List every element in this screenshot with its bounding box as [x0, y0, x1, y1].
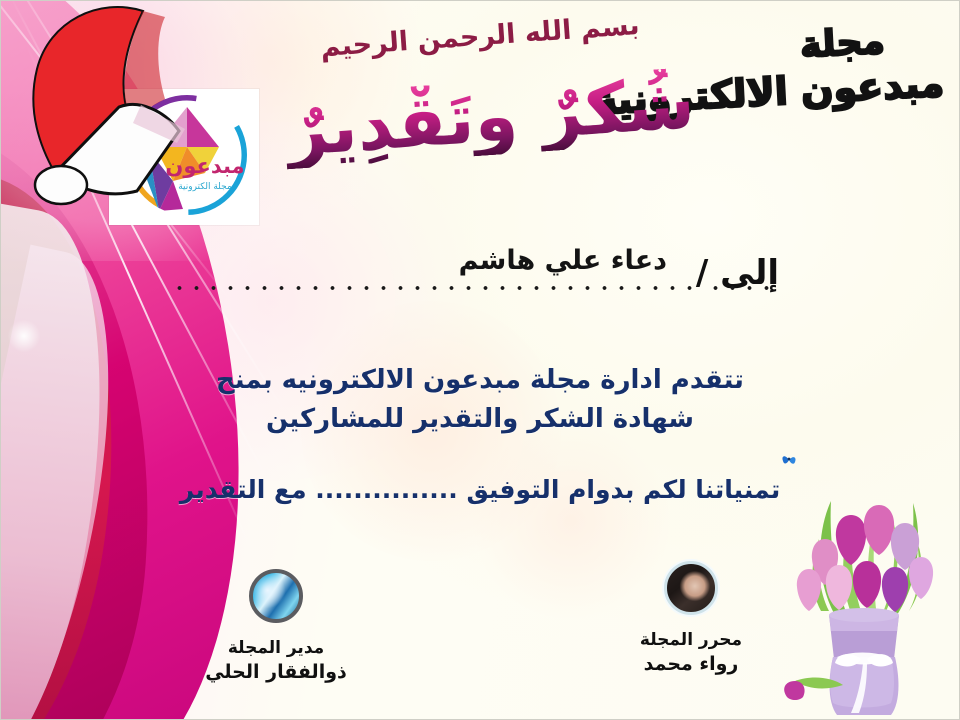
signature-editor: محرر المجلة رواء محمد	[576, 561, 806, 678]
director-avatar	[249, 569, 303, 623]
dotted-line-segment	[707, 283, 779, 293]
certificate-card: مجلة مبدعون الالكترونية بسم الله الرحمن …	[0, 0, 960, 720]
dotted-line	[171, 283, 693, 293]
signature-name: رواء محمد	[576, 652, 806, 678]
recipient-row: إلى / دعاء علي هاشم	[171, 249, 779, 305]
santa-hat-icon	[15, 3, 245, 213]
body-line-1: تتقدم ادارة مجلة مبدعون الالكترونيه بمنح	[1, 361, 959, 400]
tulip-bouquet-icon	[773, 419, 953, 719]
signature-role: مدير المجلة	[161, 637, 391, 660]
butterfly-icon	[781, 453, 797, 467]
signature-director: مدير المجلة ذوالفقار الحلي	[161, 569, 391, 686]
editor-avatar	[664, 561, 718, 615]
signature-role: محرر المجلة	[576, 629, 806, 652]
recipient-name: دعاء علي هاشم	[459, 245, 667, 276]
signature-name: ذوالفقار الحلي	[161, 660, 391, 686]
